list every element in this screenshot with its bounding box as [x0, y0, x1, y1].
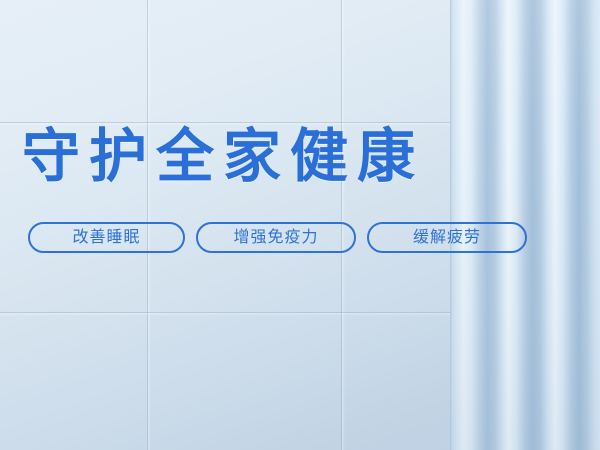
benefit-tag-boost-immunity[interactable]: 增强免疫力: [196, 222, 356, 253]
page-title: 守护全家健康: [22, 126, 424, 188]
promo-banner: 守护全家健康 改善睡眠 增强免疫力 缓解疲劳: [0, 0, 600, 450]
benefit-tag-improve-sleep[interactable]: 改善睡眠: [28, 222, 185, 253]
benefit-tag-list: 改善睡眠 增强免疫力 缓解疲劳: [28, 222, 527, 253]
grid-line-horizontal-2: [0, 312, 452, 313]
grid-line-horizontal-1: [0, 122, 452, 123]
benefit-tag-relieve-fatigue[interactable]: 缓解疲劳: [367, 222, 527, 253]
